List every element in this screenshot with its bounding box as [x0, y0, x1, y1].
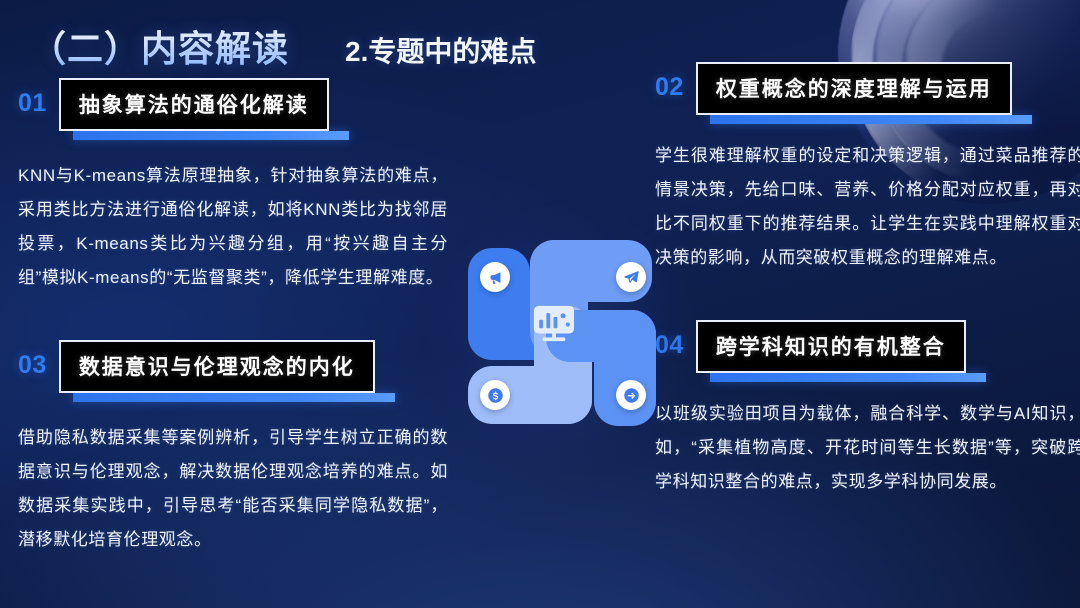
block-02-heading: 权重概念的深度理解与运用 [716, 78, 992, 101]
block-02-heading-row: 02 权重概念的深度理解与运用 [655, 62, 1080, 115]
block-01-heading: 抽象算法的通俗化解读 [79, 94, 309, 117]
dollar-coin-icon [480, 380, 510, 410]
monitor-chart-icon [530, 302, 578, 346]
block-02-accent-bar [710, 115, 1032, 124]
block-04-heading: 跨学科知识的有机整合 [716, 336, 946, 359]
block-01-body: KNN与K-means算法原理抽象，针对抽象算法的难点，采用类比方法进行通俗化解… [18, 159, 448, 295]
block-03-heading-row: 03 数据意识与伦理观念的内化 [18, 340, 448, 393]
block-02-body: 学生很难理解权重的设定和决策逻辑，通过菜品推荐的情景决策，先给口味、营养、价格分… [655, 139, 1080, 275]
paper-plane-icon [616, 262, 646, 292]
block-01-accent-bar [73, 131, 349, 140]
block-04-accent-bar [710, 373, 986, 382]
block-01-number: 01 [18, 91, 47, 118]
block-04-pill-wrap: 跨学科知识的有机整合 [696, 320, 966, 373]
block-04-heading-row: 04 跨学科知识的有机整合 [655, 320, 1080, 373]
block-03-heading: 数据意识与伦理观念的内化 [79, 356, 355, 379]
block-03-pill-wrap: 数据意识与伦理观念的内化 [59, 340, 375, 393]
content-block-01: 01 抽象算法的通俗化解读 KNN与K-means算法原理抽象，针对抽象算法的难… [18, 78, 448, 295]
page-subtitle: 2.专题中的难点 [345, 30, 536, 70]
block-02-number: 02 [655, 75, 684, 102]
slide-canvas: （二）内容解读 2.专题中的难点 01 抽象算法的通俗化解读 KNN与K-mea… [0, 0, 1080, 608]
content-block-03: 03 数据意识与伦理观念的内化 借助隐私数据采集等案例辨析，引导学生树立正确的数… [18, 340, 448, 557]
block-04-body: 以班级实验田项目为载体，融合科学、数学与AI知识，如，“采集植物高度、开花时间等… [655, 397, 1080, 499]
content-block-02: 02 权重概念的深度理解与运用 学生很难理解权重的设定和决策逻辑，通过菜品推荐的… [655, 62, 1080, 275]
pinwheel-graphic [468, 240, 656, 428]
block-04-pill: 跨学科知识的有机整合 [696, 320, 966, 373]
arrow-right-circle-icon [616, 380, 646, 410]
block-03-accent-bar [73, 393, 395, 402]
page-title: （二）内容解读 [30, 20, 289, 72]
block-01-pill: 抽象算法的通俗化解读 [59, 78, 329, 131]
megaphone-icon [480, 262, 510, 292]
block-03-pill: 数据意识与伦理观念的内化 [59, 340, 375, 393]
block-03-body: 借助隐私数据采集等案例辨析，引导学生树立正确的数据意识与伦理观念，解决数据伦理观… [18, 421, 448, 557]
block-04-number: 04 [655, 333, 684, 360]
block-02-pill: 权重概念的深度理解与运用 [696, 62, 1012, 115]
content-block-04: 04 跨学科知识的有机整合 以班级实验田项目为载体，融合科学、数学与AI知识，如… [655, 320, 1080, 499]
block-03-number: 03 [18, 353, 47, 380]
block-01-heading-row: 01 抽象算法的通俗化解读 [18, 78, 448, 131]
slide-header: （二）内容解读 2.专题中的难点 [30, 20, 536, 72]
block-01-pill-wrap: 抽象算法的通俗化解读 [59, 78, 329, 131]
block-02-pill-wrap: 权重概念的深度理解与运用 [696, 62, 1012, 115]
